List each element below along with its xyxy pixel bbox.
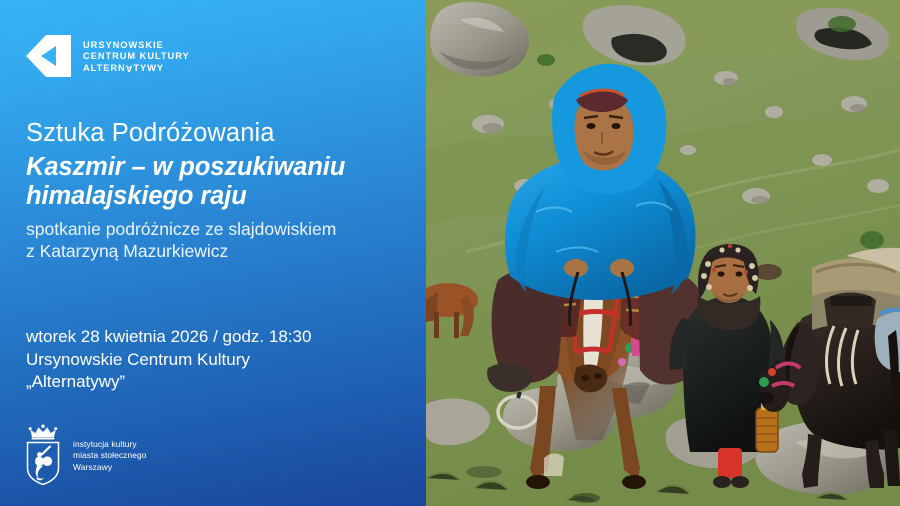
event-poster: URSYNOWSKIE CENTRUM KULTURY ALTERNATYWY … bbox=[0, 0, 900, 506]
event-details-block: wtorek 28 kwietnia 2026 / godz. 18:30 Ur… bbox=[26, 326, 416, 394]
headline-block: Sztuka Podróżowania Kaszmir – w poszukiw… bbox=[26, 118, 416, 262]
event-subtitle: spotkanie podróżnicze ze slajdowiskiem z… bbox=[26, 218, 416, 262]
event-photo bbox=[426, 0, 900, 506]
warsaw-line-3: Warszawy bbox=[73, 462, 147, 473]
ucka-line-3: ALTERNATYWY bbox=[83, 63, 190, 74]
ucka-logo: URSYNOWSKIE CENTRUM KULTURY ALTERNATYWY bbox=[26, 34, 190, 78]
event-venue: Ursynowskie Centrum Kultury bbox=[26, 349, 416, 372]
event-title: Kaszmir – w poszukiwaniu himalajskiego r… bbox=[26, 153, 416, 211]
event-title-line-1: Kaszmir – w poszukiwaniu bbox=[26, 153, 416, 182]
ucka-wordmark: URSYNOWSKIE CENTRUM KULTURY ALTERNATYWY bbox=[83, 39, 190, 74]
ucka-line-3-flipped-a: A bbox=[126, 63, 134, 74]
photo-illustration bbox=[426, 0, 900, 506]
ucka-arrow-mark bbox=[26, 34, 72, 78]
warsaw-mermaid-crest-icon bbox=[22, 424, 64, 486]
ucka-line-2: CENTRUM KULTURY bbox=[83, 51, 190, 62]
warsaw-logo: instytucja kultury miasta stołecznego Wa… bbox=[22, 424, 147, 486]
warsaw-line-2: miasta stołecznego bbox=[73, 450, 147, 461]
warsaw-line-1: instytucja kultury bbox=[73, 439, 147, 450]
left-info-panel: URSYNOWSKIE CENTRUM KULTURY ALTERNATYWY … bbox=[0, 0, 426, 506]
ucka-line-3-post: TYWY bbox=[133, 63, 164, 73]
event-datetime: wtorek 28 kwietnia 2026 / godz. 18:30 bbox=[26, 326, 416, 349]
event-subtitle-line-2: z Katarzyną Mazurkiewicz bbox=[26, 240, 416, 262]
series-kicker: Sztuka Podróżowania bbox=[26, 118, 416, 149]
ucka-line-1: URSYNOWSKIE bbox=[83, 40, 190, 51]
ucka-line-3-pre: ALTERN bbox=[83, 63, 126, 73]
event-subtitle-line-1: spotkanie podróżnicze ze slajdowiskiem bbox=[26, 218, 416, 240]
event-title-line-2: himalajskiego raju bbox=[26, 182, 416, 211]
warsaw-wordmark: instytucja kultury miasta stołecznego Wa… bbox=[73, 437, 147, 473]
event-venue-name: „Alternatywy” bbox=[26, 371, 416, 394]
